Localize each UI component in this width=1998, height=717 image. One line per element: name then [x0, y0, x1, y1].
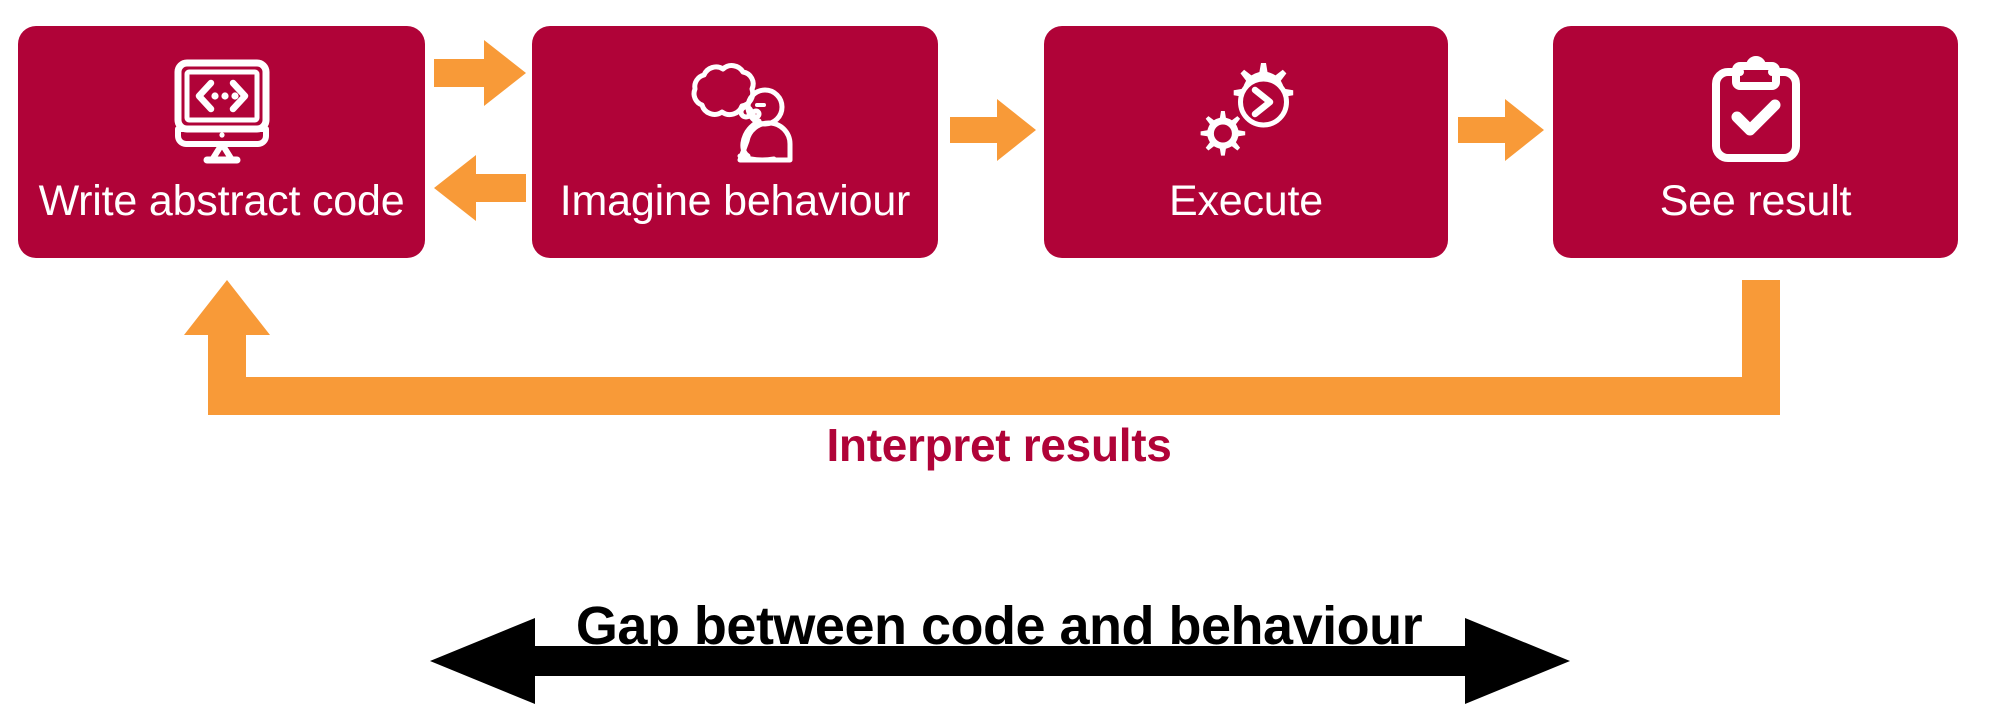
arrow-left-icon-card2-to-card1: [434, 155, 526, 221]
arrow-right-icon-card3-to-card4: [1458, 99, 1544, 161]
return-arrow-icon-interpret-results: [160, 280, 1780, 415]
double-headed-arrow-icon: [430, 618, 1570, 704]
card-label: See result: [1660, 180, 1852, 223]
card-execute[interactable]: Execute: [1044, 26, 1448, 258]
gears-play-icon: [1187, 52, 1305, 170]
monitor-code-icon: [166, 52, 278, 170]
card-imagine-behaviour[interactable]: Imagine behaviour: [532, 26, 938, 258]
card-label: Imagine behaviour: [560, 180, 910, 223]
clipboard-check-icon: [1704, 52, 1808, 170]
card-see-result[interactable]: See result: [1553, 26, 1958, 258]
feedback-loop-label: Interpret results: [0, 418, 1998, 472]
card-label: Write abstract code: [39, 180, 405, 223]
diagram-canvas: Write abstract code: [0, 0, 1998, 717]
card-label: Execute: [1169, 180, 1323, 223]
arrow-right-icon-card2-to-card3: [950, 99, 1036, 161]
arrow-right-icon-card1-to-card2: [434, 40, 526, 106]
thinking-person-thought-bubble-icon: [674, 52, 796, 170]
card-write-abstract-code[interactable]: Write abstract code: [18, 26, 425, 258]
